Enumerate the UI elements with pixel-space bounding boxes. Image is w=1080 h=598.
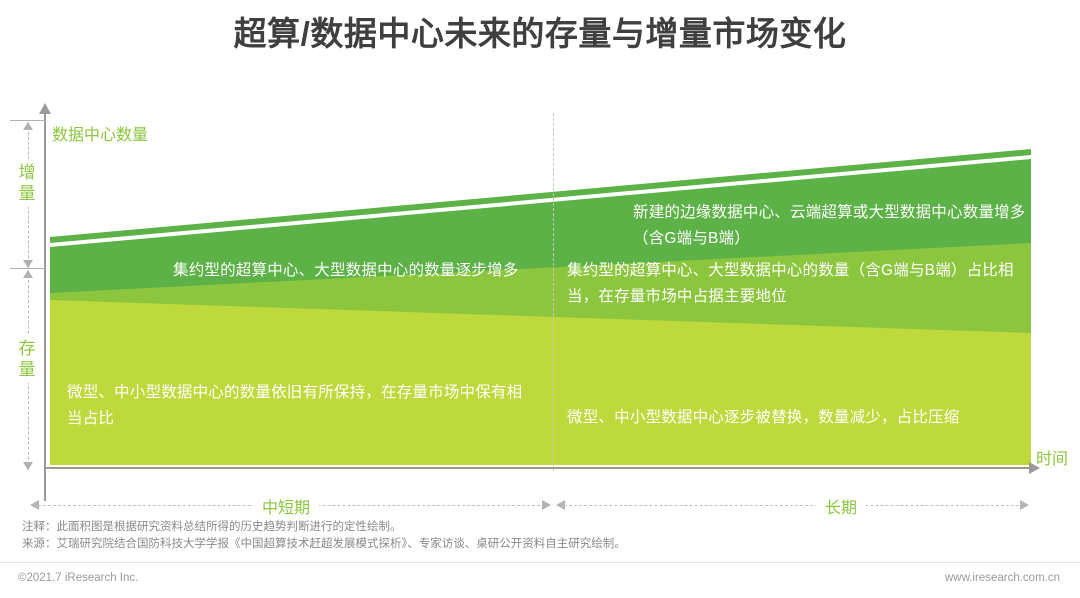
note-label: 注释： [22, 521, 57, 533]
source-text: 艾瑞研究院结合国防科技大学学报《中国超算技术赶超发展模式探析》、专家访谈、桌研公… [57, 538, 626, 550]
footer-divider [0, 562, 1080, 563]
y-bracket-label-increment: 增量 [14, 159, 40, 207]
y-axis-title: 数据中心数量 [52, 121, 148, 145]
period-line-long [564, 505, 1019, 506]
x-axis-line [44, 467, 1031, 469]
period-label-long-term: 长期 [816, 494, 866, 518]
chart-area: 数据中心数量 增量 存量 时间 新建的边缘数据中心、云端超算或大型数据中心数量增… [0, 95, 1080, 515]
period-label-short-term: 中短期 [253, 494, 319, 518]
footer-website: www.iresearch.com.cn [945, 572, 1060, 584]
footer-copyright: ©2021.7 iResearch Inc. [18, 572, 138, 584]
y-axis-arrow-icon [39, 103, 51, 114]
y-bracket-arrow-down-increment [23, 260, 33, 268]
band-label-middle-right: 集约型的超算中心、大型数据中心的数量（含G端与B端）占比相当，在存量市场中占据主… [567, 258, 1027, 310]
period-axis: 中短期 长期 [0, 490, 1080, 522]
period-arrow-right-short [542, 500, 551, 510]
page-title: 超算/数据中心未来的存量与增量市场变化 [0, 12, 1080, 56]
note-row: 注释：此面积图是根据研究资料总结所得的历史趋势判断进行的定性绘制。 [22, 519, 626, 536]
source-label: 来源： [22, 538, 57, 550]
y-bracket-cap-top [10, 120, 46, 121]
period-arrow-right-long [1020, 500, 1029, 510]
y-bracket-label-stock: 存量 [14, 335, 40, 383]
y-bracket-arrow-down-stock [23, 462, 33, 470]
y-axis-line [44, 113, 46, 501]
source-row: 来源：艾瑞研究院结合国防科技大学学报《中国超算技术赶超发展模式探析》、专家访谈、… [22, 536, 626, 553]
band-label-bottom-right: 微型、中小型数据中心逐步被替换，数量减少，占比压缩 [567, 405, 1027, 431]
band-label-middle-left: 集约型的超算中心、大型数据中心的数量逐步增多 [173, 258, 543, 284]
period-divider-line [553, 113, 554, 471]
footnotes: 注释：此面积图是根据研究资料总结所得的历史趋势判断进行的定性绘制。 来源：艾瑞研… [22, 519, 626, 553]
y-bracket-cap-mid [10, 268, 46, 269]
x-axis-title: 时间 [1036, 445, 1068, 469]
note-text: 此面积图是根据研究资料总结所得的历史趋势判断进行的定性绘制。 [57, 521, 402, 533]
band-label-top-right: 新建的边缘数据中心、云端超算或大型数据中心数量增多（含G端与B端） [633, 200, 1033, 252]
band-label-bottom-left: 微型、中小型数据中心的数量依旧有所保持，在存量市场中保有相当占比 [67, 380, 537, 432]
